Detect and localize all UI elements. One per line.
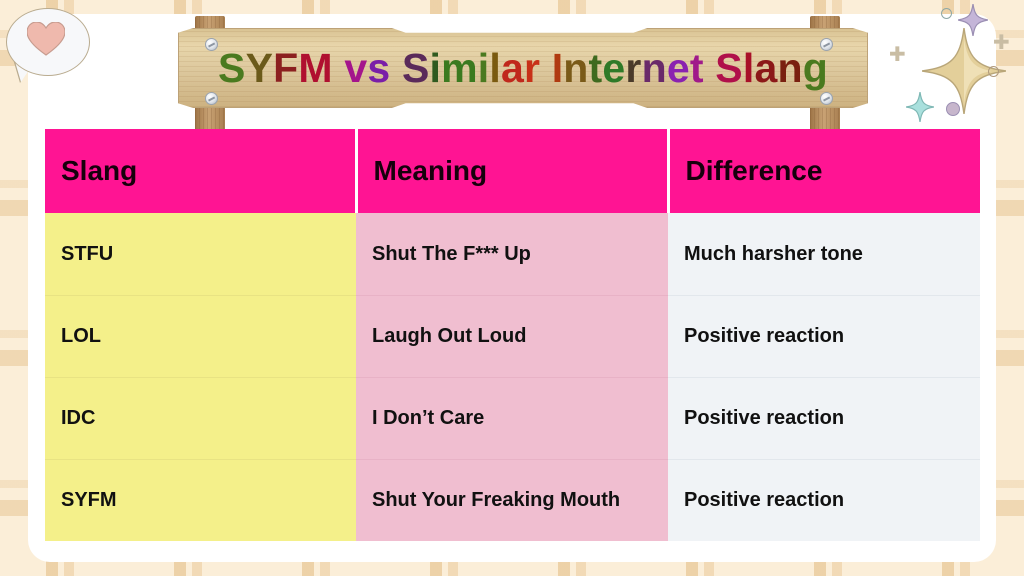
column-header-meaning: Meaning — [356, 129, 668, 213]
cell-slang: IDC — [45, 377, 356, 459]
table-row: IDCI Don’t CarePositive reaction — [45, 377, 980, 459]
column-header-slang: Slang — [45, 129, 356, 213]
cell-difference: Positive reaction — [668, 459, 980, 541]
table-row: LOLLaugh Out LoudPositive reaction — [45, 295, 980, 377]
cross-sparkle-icon: ✚ — [993, 32, 1010, 52]
cell-meaning: Shut The F*** Up — [356, 213, 668, 295]
heart-icon — [27, 22, 65, 56]
slang-comparison-table: Slang Meaning Difference STFUShut The F*… — [45, 129, 980, 541]
table-header: Slang Meaning Difference — [45, 129, 980, 213]
dot-decoration — [988, 66, 999, 77]
dot-decoration — [946, 102, 960, 116]
dot-decoration — [941, 8, 952, 19]
cell-meaning: Laugh Out Loud — [356, 295, 668, 377]
cell-difference: Positive reaction — [668, 295, 980, 377]
table-header-row: Slang Meaning Difference — [45, 129, 980, 213]
cell-slang: STFU — [45, 213, 356, 295]
table-row: SYFMShut Your Freaking MouthPositive rea… — [45, 459, 980, 541]
cell-meaning: Shut Your Freaking Mouth — [356, 459, 668, 541]
sparkle-star-purple-icon — [958, 4, 988, 36]
cell-meaning: I Don’t Care — [356, 377, 668, 459]
cross-sparkle-icon: ✚ — [889, 44, 906, 64]
table-body: STFUShut The F*** UpMuch harsher toneLOL… — [45, 213, 980, 541]
cell-slang: LOL — [45, 295, 356, 377]
table-row: STFUShut The F*** UpMuch harsher tone — [45, 213, 980, 295]
column-header-difference: Difference — [668, 129, 980, 213]
cell-difference: Much harsher tone — [668, 213, 980, 295]
cell-difference: Positive reaction — [668, 377, 980, 459]
slide-canvas: ✚ ✚ SYFM vs Similar Internet Slang Slang… — [0, 0, 1024, 576]
cell-slang: SYFM — [45, 459, 356, 541]
sparkle-star-teal-icon — [906, 92, 934, 122]
